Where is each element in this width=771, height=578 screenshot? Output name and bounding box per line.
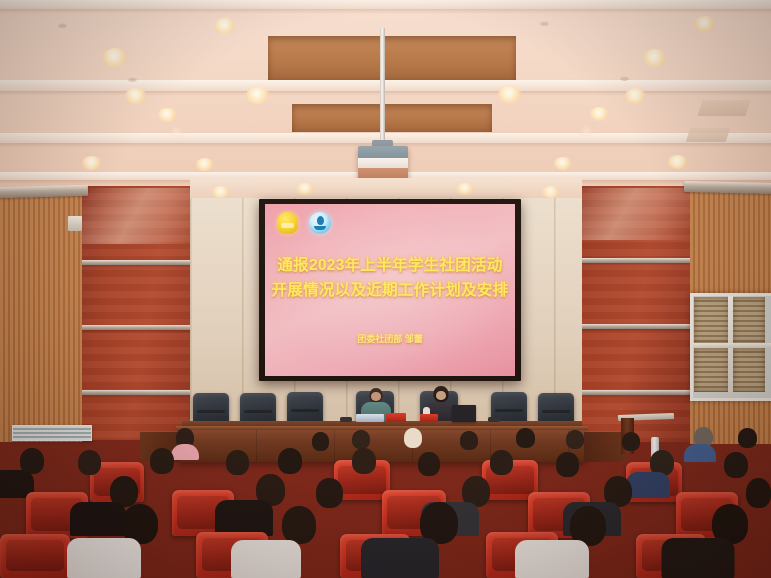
audience-head <box>566 430 584 449</box>
gold-emblem-logo <box>277 212 298 234</box>
microphone-base <box>488 417 500 422</box>
ceiling-downlight <box>643 49 667 67</box>
audience-head <box>312 432 329 451</box>
microphone-base <box>340 417 352 422</box>
right-wall-panel <box>568 186 692 442</box>
audience-head <box>516 428 535 448</box>
blue-circle-logo <box>309 212 331 234</box>
audience-shoulders <box>215 500 273 536</box>
audience-head <box>352 430 370 449</box>
red-folder <box>420 414 438 422</box>
audience-head <box>622 432 640 451</box>
window-pane <box>694 297 729 344</box>
ceiling-downlight <box>82 156 102 170</box>
window-pane <box>694 348 729 392</box>
ceiling-air-vent <box>686 128 731 142</box>
audience-head <box>724 452 748 478</box>
wall-cornice <box>684 181 771 194</box>
wall-trim-strip <box>80 260 202 265</box>
ceiling-wood-panel <box>292 104 492 132</box>
smoke-detector <box>128 77 137 82</box>
audience-shoulders <box>67 538 141 578</box>
ceiling-beam <box>0 0 771 9</box>
slide-subtitle: 团委社团部 邹蕾 <box>265 332 515 345</box>
ceiling-downlight <box>554 157 572 170</box>
audience-head <box>738 428 757 448</box>
audience-shoulders <box>171 444 199 460</box>
audience-head <box>490 450 513 475</box>
auditorium-scene: 通报2023年上半年学生社团活动 开展情况以及近期工作计划及安排 团委社团部 邹… <box>0 0 771 578</box>
ceiling-downlight <box>102 48 128 67</box>
ceiling-downlight <box>694 16 716 32</box>
audience-head <box>282 506 316 544</box>
ceiling-projector <box>358 146 408 180</box>
stage-downlight <box>542 186 560 198</box>
speaker-right-face <box>436 391 446 400</box>
red-folder <box>386 413 406 422</box>
audience-head <box>556 452 579 477</box>
slide-title-line-1: 通报2023年上半年学生社团活动 <box>265 256 515 276</box>
audience-head <box>352 448 376 474</box>
audience-head <box>150 448 174 474</box>
audience-head <box>418 452 440 476</box>
wall-speaker-box <box>68 216 82 231</box>
ceiling-downlight <box>158 108 177 122</box>
audience-shoulders <box>361 538 439 578</box>
audience-head <box>278 448 302 474</box>
head-table-chair <box>287 392 323 424</box>
ceiling-downlight <box>668 155 688 169</box>
stage-downlight <box>212 186 230 198</box>
ceiling-downlight <box>214 18 236 34</box>
wall-radiator <box>12 425 92 441</box>
wall-trim-strip <box>568 390 692 395</box>
ceiling-downlight <box>498 86 522 103</box>
head-table-side-return <box>584 432 626 462</box>
ceiling-beam <box>0 80 771 91</box>
audience-head <box>316 478 343 508</box>
audience-head <box>226 450 249 475</box>
audience-shoulders <box>662 538 735 578</box>
laptop <box>452 405 476 422</box>
slide-title-line-2: 开展情况以及近期工作计划及安排 <box>265 281 515 301</box>
projection-screen: 通报2023年上半年学生社团活动 开展情况以及近期工作计划及安排 团委社团部 邹… <box>265 204 515 376</box>
stage-downlight <box>456 183 475 195</box>
document-stack <box>356 414 384 422</box>
window-pane <box>733 348 765 392</box>
audience-shoulders <box>515 540 589 578</box>
audience-head <box>746 478 771 508</box>
left-acoustic-slat-wall <box>0 196 82 442</box>
ceiling-downlight <box>578 125 595 137</box>
left-wall-panel <box>80 186 202 440</box>
wall-trim-strip <box>80 390 202 395</box>
ceiling-downlight <box>590 107 609 121</box>
stage-soffit <box>190 178 582 200</box>
smoke-detector <box>620 76 629 81</box>
wall-trim-strip <box>568 324 692 329</box>
stage-downlight <box>296 183 315 195</box>
smoke-detector <box>540 21 549 26</box>
audience-head <box>460 431 478 450</box>
audience-shoulders <box>626 472 670 498</box>
ceiling-downlight <box>246 87 270 104</box>
ceiling-wood-panel <box>268 36 516 80</box>
audience-shoulders <box>70 502 126 536</box>
audience-head <box>78 450 101 475</box>
smoke-detector <box>58 23 67 28</box>
wall-trim-strip <box>80 325 202 330</box>
window-mullion <box>693 343 771 348</box>
ceiling-downlight <box>168 126 185 138</box>
projector-pole <box>380 28 385 143</box>
slide-logo-group <box>277 212 331 234</box>
wall-trim-strip <box>568 258 692 263</box>
ceiling-downlight <box>196 158 214 171</box>
audience-shoulders <box>231 540 301 578</box>
side-window <box>690 293 771 401</box>
ceiling-downlight <box>125 88 147 104</box>
audience-head <box>404 428 422 448</box>
speaker-left-face <box>371 392 381 401</box>
ceiling-downlight <box>625 88 646 104</box>
audience-shoulders <box>684 444 716 462</box>
ceiling-air-vent <box>697 100 750 116</box>
audience-seat <box>0 534 70 578</box>
window-pane <box>733 297 765 344</box>
